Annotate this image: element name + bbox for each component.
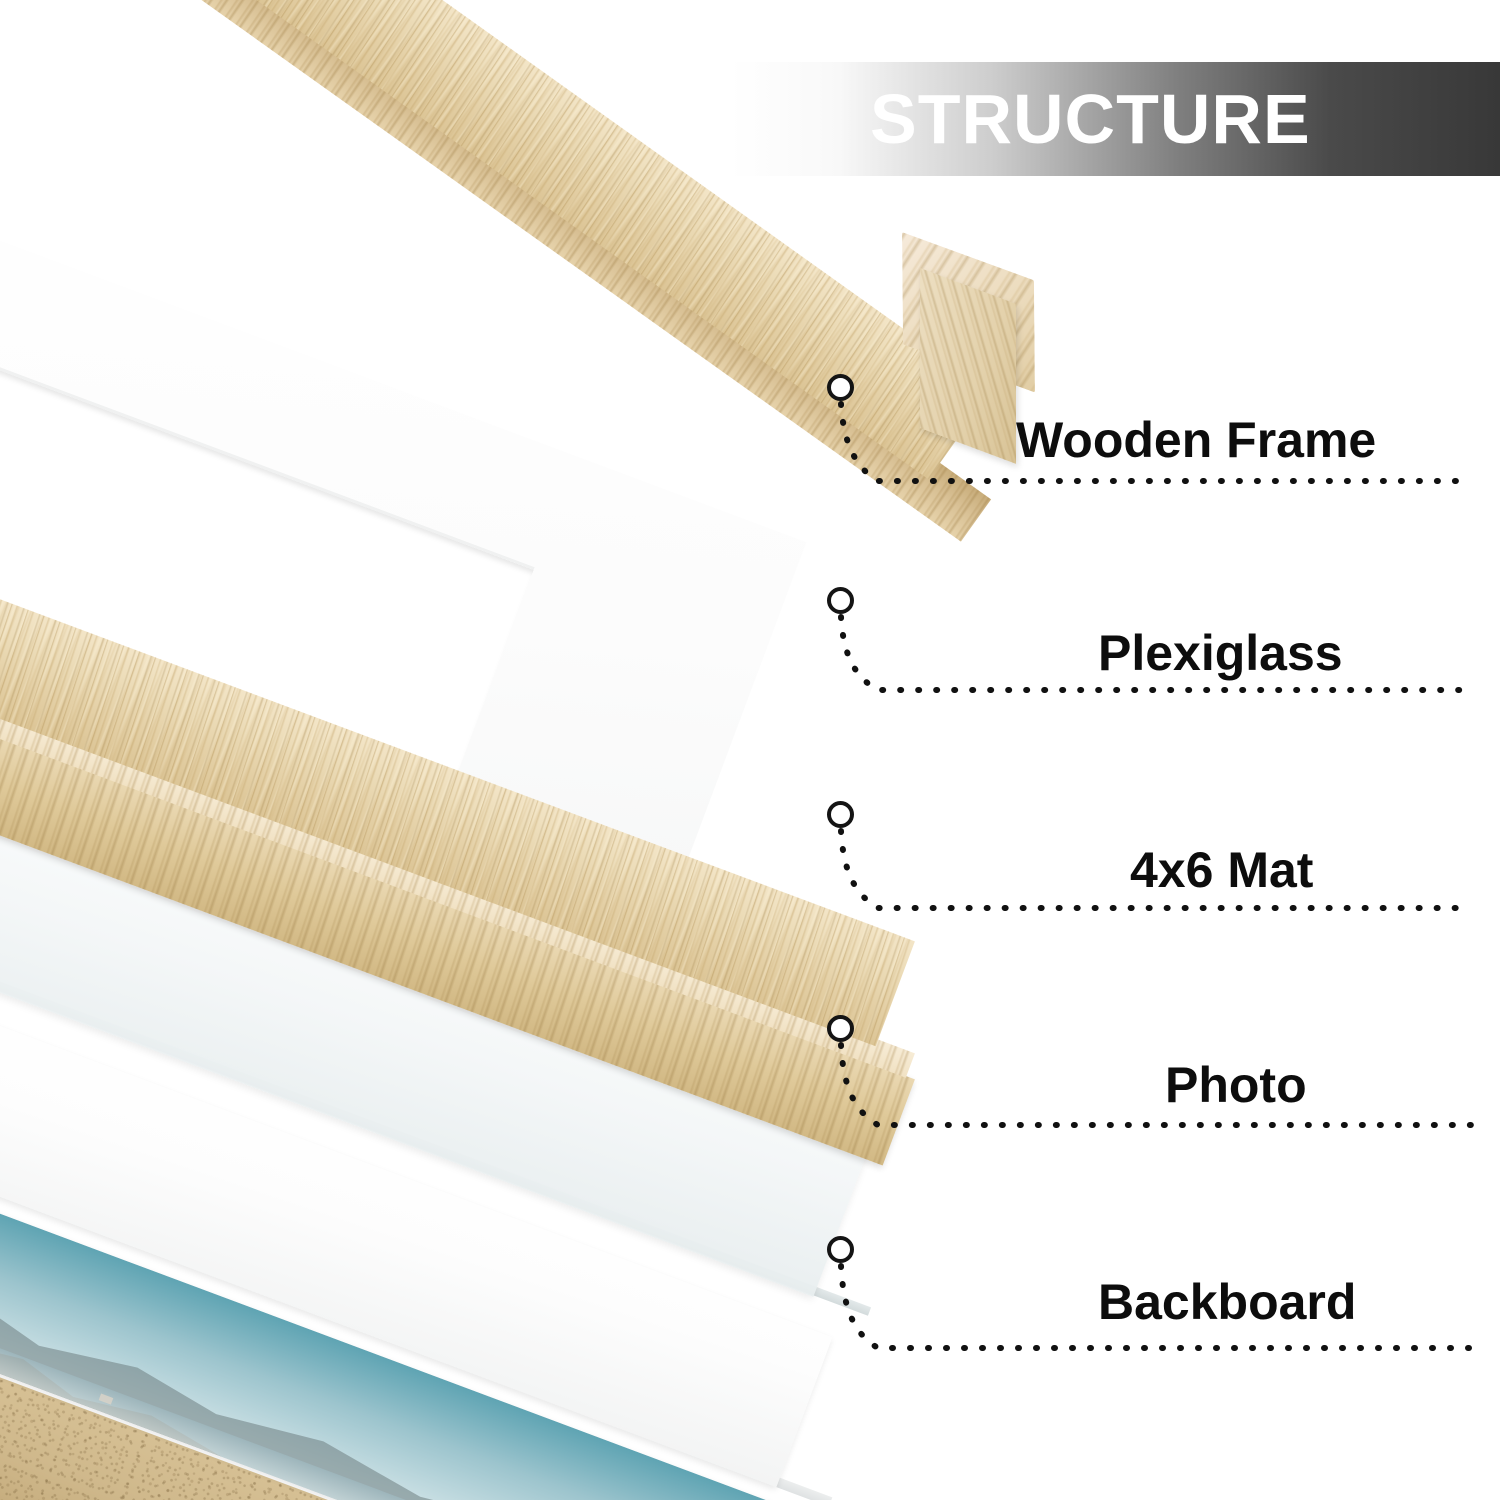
structure-banner: STRUCTURE [730,62,1500,176]
infographic-canvas: STRUCTURE Wooden Frame Plexiglass 4x6 Ma… [0,0,1500,1500]
marker-photo[interactable] [827,1015,854,1042]
banner-title: STRUCTURE [870,84,1311,154]
label-mat: 4x6 Mat [1130,845,1313,895]
marker-backboard[interactable] [827,1236,854,1263]
marker-mat[interactable] [827,801,854,828]
label-photo: Photo [1165,1060,1307,1110]
label-wooden-frame: Wooden Frame [1016,415,1376,465]
label-plexiglass: Plexiglass [1098,628,1343,678]
marker-wooden-frame[interactable] [827,374,854,401]
label-backboard: Backboard [1098,1277,1356,1327]
marker-plexiglass[interactable] [827,587,854,614]
